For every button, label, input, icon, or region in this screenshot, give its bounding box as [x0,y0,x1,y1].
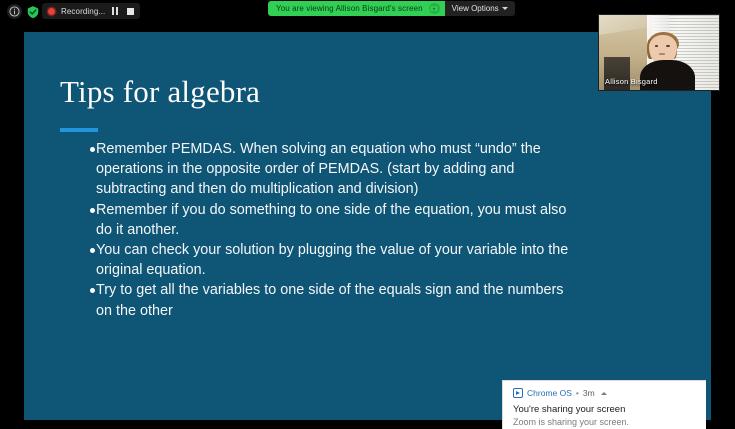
notification-timestamp: 3m [583,388,595,398]
bullet-point-icon [68,280,96,293]
shield-icon[interactable] [25,4,40,19]
list-item: Try to get all the variables to one side… [68,280,578,320]
view-options-label: View Options [452,4,499,13]
info-icon[interactable] [7,4,22,19]
bullet-text: Remember if you do something to one side… [96,200,578,240]
bullet-text: Try to get all the variables to one side… [96,280,578,320]
participant-name-label: Allison Bisgard [605,77,658,86]
title-accent-rule [60,128,98,132]
screen-cast-icon [513,388,523,398]
system-notification-toast[interactable]: Chrome OS • 3m You're sharing your scree… [502,380,706,429]
list-item: You can check your solution by plugging … [68,240,578,280]
bullet-point-icon [68,240,96,253]
screen-share-icon [429,3,440,14]
participant-video-thumbnail[interactable]: Allison Bisgard [598,14,720,91]
chevron-down-icon [502,7,508,10]
record-indicator-icon [46,6,56,16]
bullet-point-icon [68,200,96,213]
pause-icon [112,7,118,15]
screen-share-banner: You are viewing Allison Bisgard's screen… [268,1,515,16]
notification-title: You're sharing your screen [513,403,696,416]
pause-recording-button[interactable] [110,6,120,17]
recording-label: Recording... [61,7,105,16]
notification-app-name: Chrome OS [527,388,572,398]
notification-body: Zoom is sharing your screen. [513,416,696,428]
slide-bullet-list: Remember PEMDAS. When solving an equatio… [68,139,578,321]
bullet-text: Remember PEMDAS. When solving an equatio… [96,139,578,200]
list-item: Remember if you do something to one side… [68,200,578,240]
notification-separator: • [576,388,579,398]
recording-pill: Recording... [42,3,140,19]
viewing-notice-label: You are viewing Allison Bisgard's screen [276,4,423,13]
slide-title: Tips for algebra [60,76,260,107]
stop-icon [127,8,134,15]
viewing-notice: You are viewing Allison Bisgard's screen [268,1,445,16]
list-item: Remember PEMDAS. When solving an equatio… [68,139,578,200]
view-options-button[interactable]: View Options [445,1,515,16]
notification-header: Chrome OS • 3m [513,388,696,398]
bullet-point-icon [68,139,96,152]
chevron-up-icon[interactable] [601,392,607,395]
stop-recording-button[interactable] [125,6,135,17]
bullet-text: You can check your solution by plugging … [96,240,578,280]
